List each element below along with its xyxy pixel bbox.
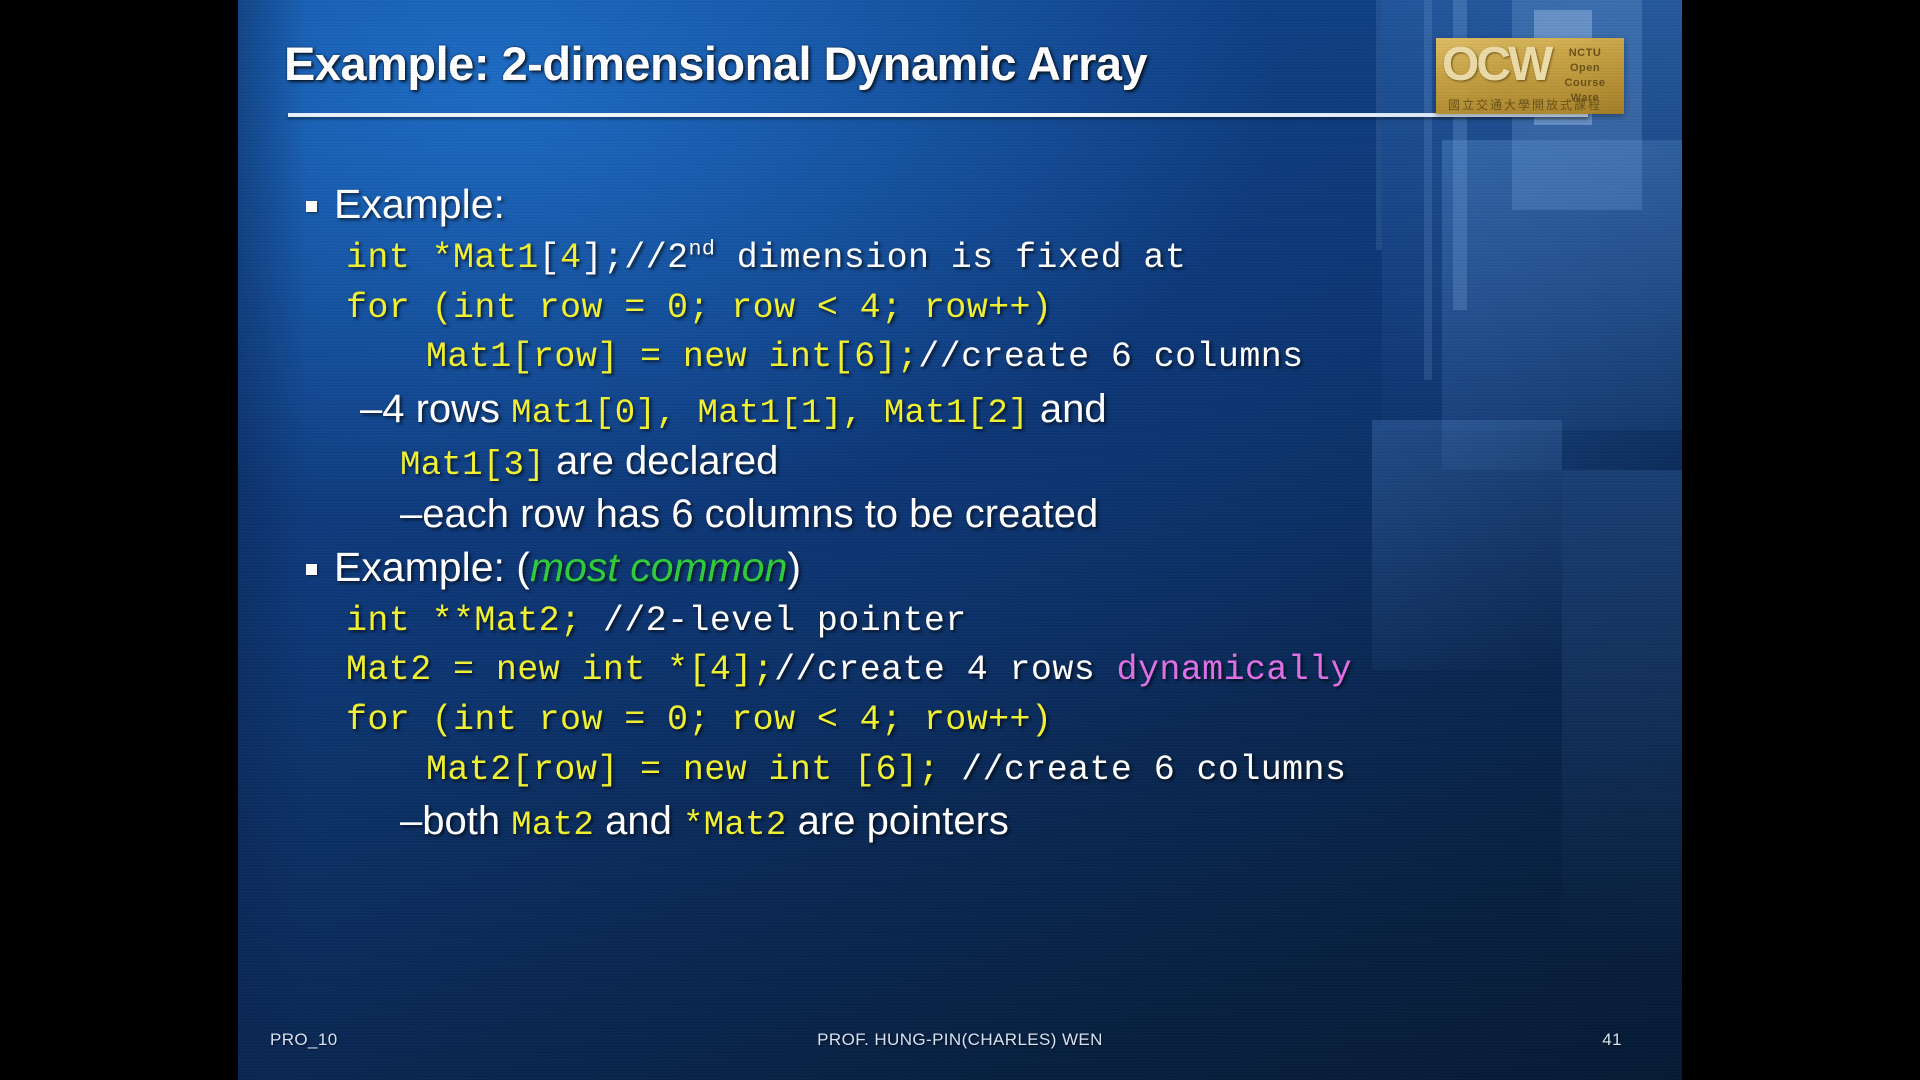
code-comment-2nd-dim-a: //2 [624, 238, 688, 278]
subbullet-each-row-text: –each row has 6 columns to be created [400, 492, 1098, 536]
subbullet-mat2-token: Mat2 [511, 807, 594, 845]
code-alloc-mat2-rows: Mat2 = new int *[4]; [346, 650, 774, 690]
code-comment-dynamically: dynamically [1117, 650, 1352, 690]
bullet-example-2: Example: (most common) [306, 545, 1658, 591]
title-underline-rule [288, 113, 1588, 117]
subbullet-4-rows-prefix: –4 rows [360, 387, 511, 431]
code-comment-2-level-pointer: //2-level pointer [581, 601, 966, 641]
ocw-wordmark: OCW [1442, 40, 1550, 90]
subbullet-and-word: and [1029, 387, 1107, 431]
footer-presenter: PROF. HUNG-PIN(CHARLES) WEN [238, 1030, 1682, 1050]
subbullet-are-declared: are declared [545, 439, 778, 483]
code-line-declare-mat2: int **Mat2; //2-level pointer [346, 597, 1658, 647]
code-for-loop-1-text: for (int row = 0; row < 4; row++) [346, 288, 1052, 328]
subbullet-star-mat2-token: *Mat2 [683, 807, 787, 845]
slide-canvas: Example: 2-dimensional Dynamic Array OCW… [238, 0, 1682, 1080]
code-token-int: int [346, 238, 432, 278]
letterbox-bar-right [1682, 0, 1920, 1080]
square-bullet-icon [306, 564, 317, 575]
code-comment-2nd-dim-b: dimension is fixed at [715, 238, 1186, 278]
code-comment-ordinal-suffix: nd [689, 236, 716, 261]
subbullet-are-pointers: are pointers [787, 799, 1009, 843]
code-line-new-int6-mat1: Mat1[row] = new int[6];//create 6 column… [426, 333, 1658, 383]
bullet-example-2-suffix: ) [787, 544, 801, 590]
subbullet-both-prefix: –both [400, 799, 511, 843]
code-comment-create-6-columns-2: //create 6 columns [940, 750, 1347, 790]
letterbox-bar-left [0, 0, 238, 1080]
code-comment-create-6-columns-1: //create 6 columns [918, 337, 1303, 377]
code-line-new-int6-mat2: Mat2[row] = new int [6]; //create 6 colu… [426, 746, 1658, 796]
subbullet-mat1-index-3: Mat1[3] [400, 447, 545, 485]
slide-body: Example: int *Mat1[4];//2nd dimension is… [298, 182, 1658, 850]
code-token-four: 4 [560, 238, 581, 278]
code-line-declare-mat1: int *Mat1[4];//2nd dimension is fixed at [346, 234, 1658, 284]
subbullet-and-word-2: and [594, 799, 683, 843]
code-alloc-mat1-row: Mat1[row] = new int[6]; [426, 337, 918, 377]
code-token-int-starstar-mat2: int **Mat2; [346, 601, 581, 641]
code-token-rbracket-semi: ]; [581, 238, 624, 278]
page-title: Example: 2-dimensional Dynamic Array [284, 38, 1614, 90]
code-token-star-mat1: *Mat1 [432, 238, 539, 278]
bullet-example-2-emphasis: most common [530, 544, 787, 590]
bullet-example-2-label: Example: (most common) [334, 545, 801, 591]
code-token-lbracket: [ [539, 238, 560, 278]
code-comment-create-4-rows: //create 4 rows [774, 650, 1116, 690]
code-line-alloc-mat2-rows: Mat2 = new int *[4];//create 4 rows dyna… [346, 646, 1658, 696]
subbullet-4-rows-declared-line2: Mat1[3] are declared [400, 437, 1658, 487]
code-for-loop-2-text: for (int row = 0; row < 4; row++) [346, 700, 1052, 740]
bullet-example-2-prefix: Example: ( [334, 544, 530, 590]
presentation-screenshot: Example: 2-dimensional Dynamic Array OCW… [0, 0, 1920, 1080]
subbullet-mat1-indices: Mat1[0], Mat1[1], Mat1[2] [511, 395, 1029, 433]
bullet-example-1-label: Example: [334, 182, 505, 228]
title-block: Example: 2-dimensional Dynamic Array [284, 38, 1614, 117]
subbullet-both-mat2-pointers: –both Mat2 and *Mat2 are pointers [400, 797, 1658, 847]
code-line-for-loop-2: for (int row = 0; row < 4; row++) [346, 696, 1658, 746]
slide-footer: PRO_10 PROF. HUNG-PIN(CHARLES) WEN 41 [238, 1030, 1682, 1060]
footer-page-number: 41 [1602, 1030, 1622, 1050]
ocw-chinese-caption: 國立交通大學開放式課程 [1448, 96, 1602, 113]
subbullet-4-rows-declared-line1: –4 rows Mat1[0], Mat1[1], Mat1[2] and [360, 385, 1658, 435]
ocw-logo: OCW NCTUOpenCourseWare 國立交通大學開放式課程 [1436, 38, 1624, 114]
bullet-example-1: Example: [306, 182, 1658, 228]
square-bullet-icon [306, 201, 317, 212]
subbullet-each-row-6-columns: –each row has 6 columns to be created [400, 490, 1658, 539]
code-line-for-loop-1: for (int row = 0; row < 4; row++) [346, 284, 1658, 334]
code-alloc-mat2-row: Mat2[row] = new int [6]; [426, 750, 940, 790]
